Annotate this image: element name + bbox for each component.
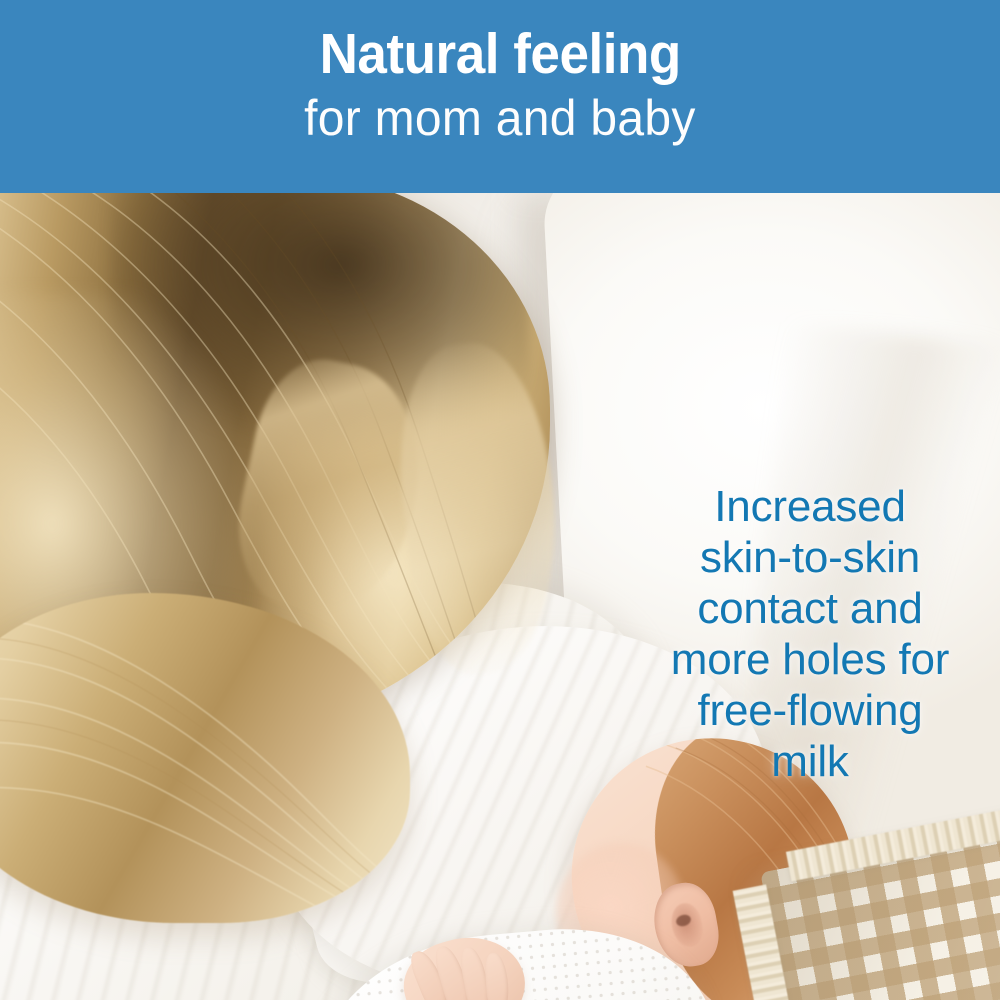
callout-line-1: Increased xyxy=(620,481,1000,532)
hair-wave-lines-icon xyxy=(0,593,410,923)
mother-hair-lower xyxy=(0,593,410,923)
lifestyle-photo: Increased skin-to-skin contact and more … xyxy=(0,193,1000,1000)
banner-subtitle: for mom and baby xyxy=(304,90,695,146)
promo-poster: Increased skin-to-skin contact and more … xyxy=(0,0,1000,1000)
header-banner: Natural feeling for mom and baby xyxy=(0,0,1000,193)
callout-line-2: skin-to-skin xyxy=(620,532,1000,583)
callout-line-6: milk xyxy=(620,736,1000,787)
callout-text: Increased skin-to-skin contact and more … xyxy=(620,481,1000,787)
callout-line-3: contact and xyxy=(620,583,1000,634)
callout-line-5: free-flowing xyxy=(620,685,1000,736)
callout-line-4: more holes for xyxy=(620,634,1000,685)
banner-title: Natural feeling xyxy=(319,24,680,84)
